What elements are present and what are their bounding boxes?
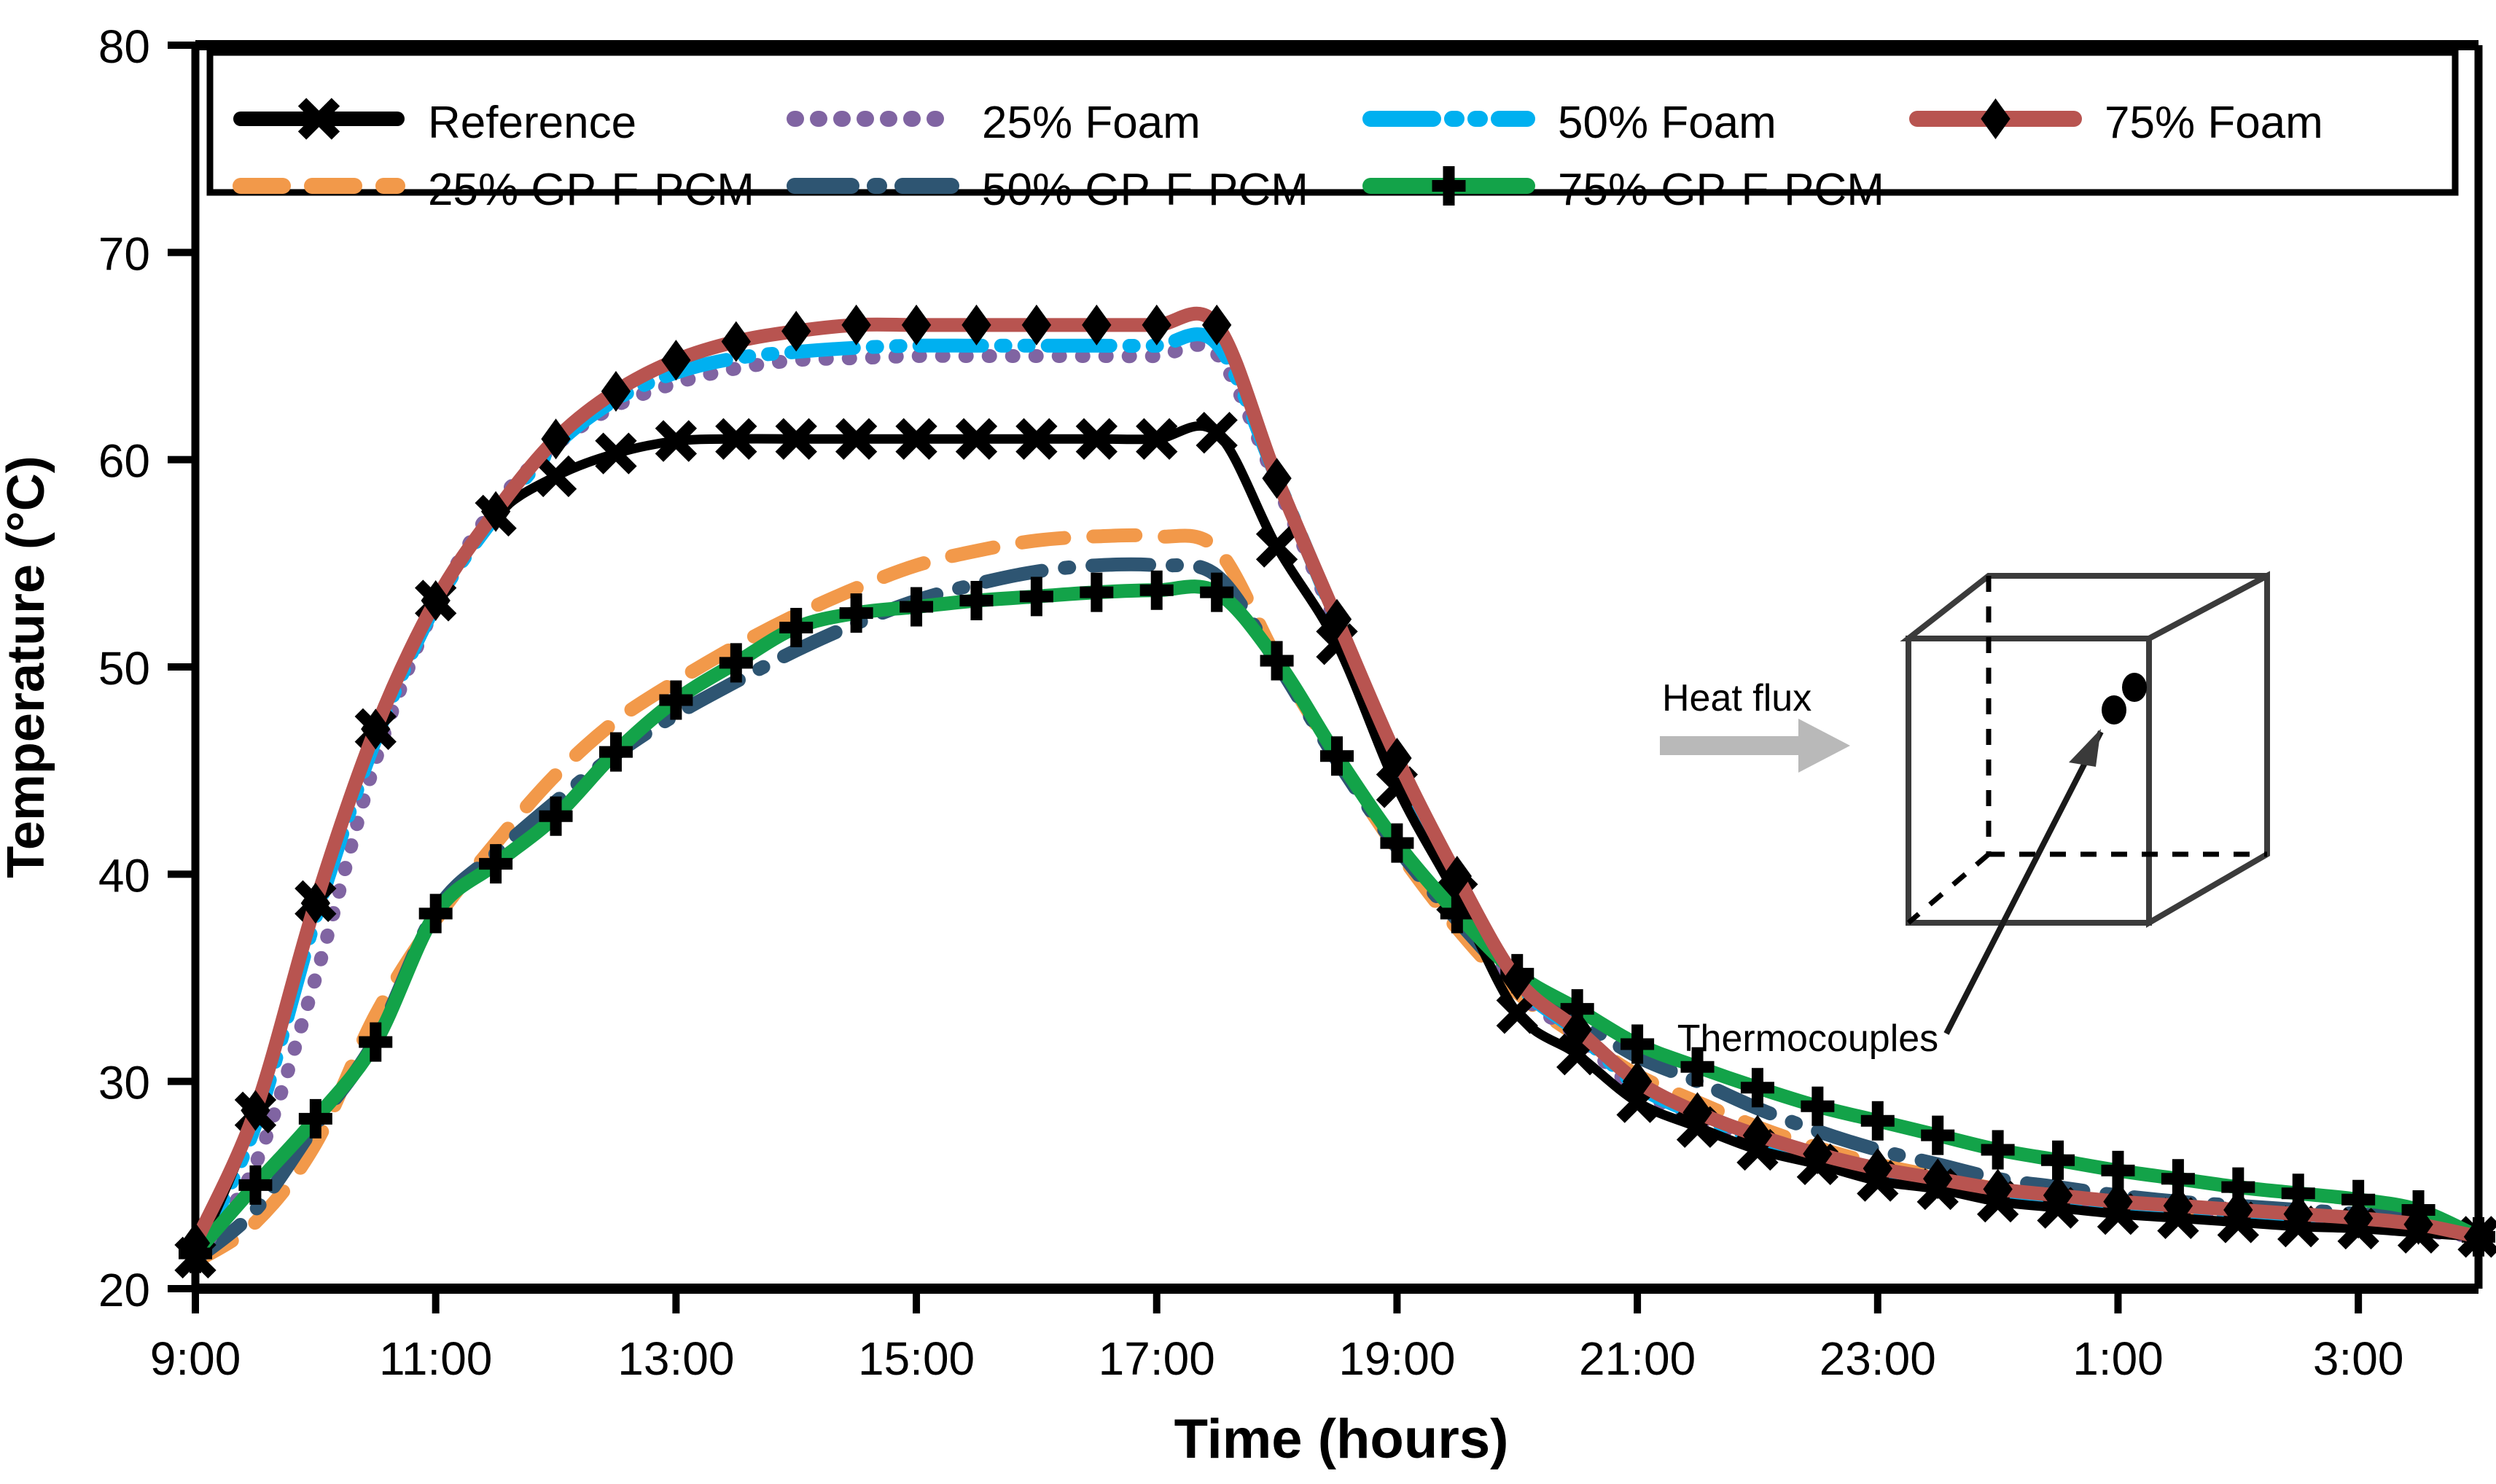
heat-flux-label: Heat flux (1662, 677, 1811, 719)
y-tick-label: 50 (98, 642, 150, 695)
series-marker-plus (1921, 1116, 1954, 1155)
temperature-time-chart: 20304050607080 9:0011:0013:0015:0017:001… (0, 0, 2496, 1484)
x-tick-label: 11:00 (379, 1332, 492, 1385)
inset-diagram: Heat flux Thermocouples (1660, 576, 2267, 1060)
y-tick-label: 40 (98, 849, 150, 902)
legend-item-75-gp-f-pcm[interactable]: 75% GP-F-PCM (1370, 165, 1884, 215)
plot-frame (195, 45, 2479, 1289)
x-tick-label: 17:00 (1099, 1332, 1215, 1385)
series-marker-plus (1801, 1087, 1834, 1126)
thermocouples-label: Thermocouples (1677, 1018, 1938, 1060)
thermocouple-dot-2 (2102, 695, 2126, 725)
x-tick-label: 9:00 (150, 1332, 241, 1385)
series-line (195, 426, 2479, 1257)
y-tick-label: 20 (98, 1264, 150, 1316)
series-marker-diamond (1142, 305, 1171, 345)
series-marker-diamond (841, 305, 870, 345)
legend: Reference25% Foam50% Foam75% Foam25% GP-… (210, 52, 2455, 215)
x-tick-label: 3:00 (2313, 1332, 2404, 1385)
x-axis-ticks: 9:0011:0013:0015:0017:0019:0021:0023:001… (150, 1289, 2404, 1385)
legend-label: 25% GP-F-PCM (428, 165, 754, 215)
series-marker-plus (1861, 1101, 1895, 1141)
legend-label: Reference (428, 98, 636, 148)
x-tick-label: 13:00 (617, 1332, 734, 1385)
y-tick-label: 70 (98, 227, 150, 280)
y-axis-ticks: 20304050607080 (98, 20, 195, 1316)
series-marker-plus (2041, 1141, 2075, 1180)
x-tick-label: 23:00 (1820, 1332, 1936, 1385)
series-marker-plus (1080, 573, 1113, 612)
series-marker-plus (1140, 571, 1174, 610)
x-tick-label: 1:00 (2072, 1332, 2164, 1385)
chart-root: 20304050607080 9:0011:0013:0015:0017:001… (0, 0, 2496, 1484)
y-axis-title: Temperature (°C) (0, 456, 55, 878)
y-tick-label: 30 (98, 1057, 150, 1109)
legend-label: 25% Foam (982, 98, 1201, 148)
series-line (195, 313, 2479, 1243)
y-tick-label: 80 (98, 20, 150, 73)
x-tick-label: 21:00 (1579, 1332, 1696, 1385)
x-axis-title: Time (hours) (1174, 1408, 1509, 1470)
thermocouple-dot-1 (2122, 673, 2147, 702)
heat-flux-arrow (1660, 719, 1850, 773)
series-50-gp-f-pcm (195, 564, 2479, 1260)
series-marker-x (539, 459, 573, 493)
legend-label: 50% GP-F-PCM (982, 165, 1309, 215)
x-tick-label: 19:00 (1338, 1332, 1455, 1385)
legend-label: 75% Foam (2105, 98, 2323, 148)
legend-label: 75% GP-F-PCM (1558, 165, 1884, 215)
y-tick-label: 60 (98, 435, 150, 488)
legend-label: 50% Foam (1558, 98, 1777, 148)
series-marker-x (1200, 416, 1233, 450)
series-marker-plus (1020, 577, 1053, 616)
series-marker-plus (1981, 1130, 2015, 1169)
x-tick-label: 15:00 (858, 1332, 975, 1385)
series-marker-x (1260, 530, 1294, 563)
series-line (195, 564, 2479, 1260)
